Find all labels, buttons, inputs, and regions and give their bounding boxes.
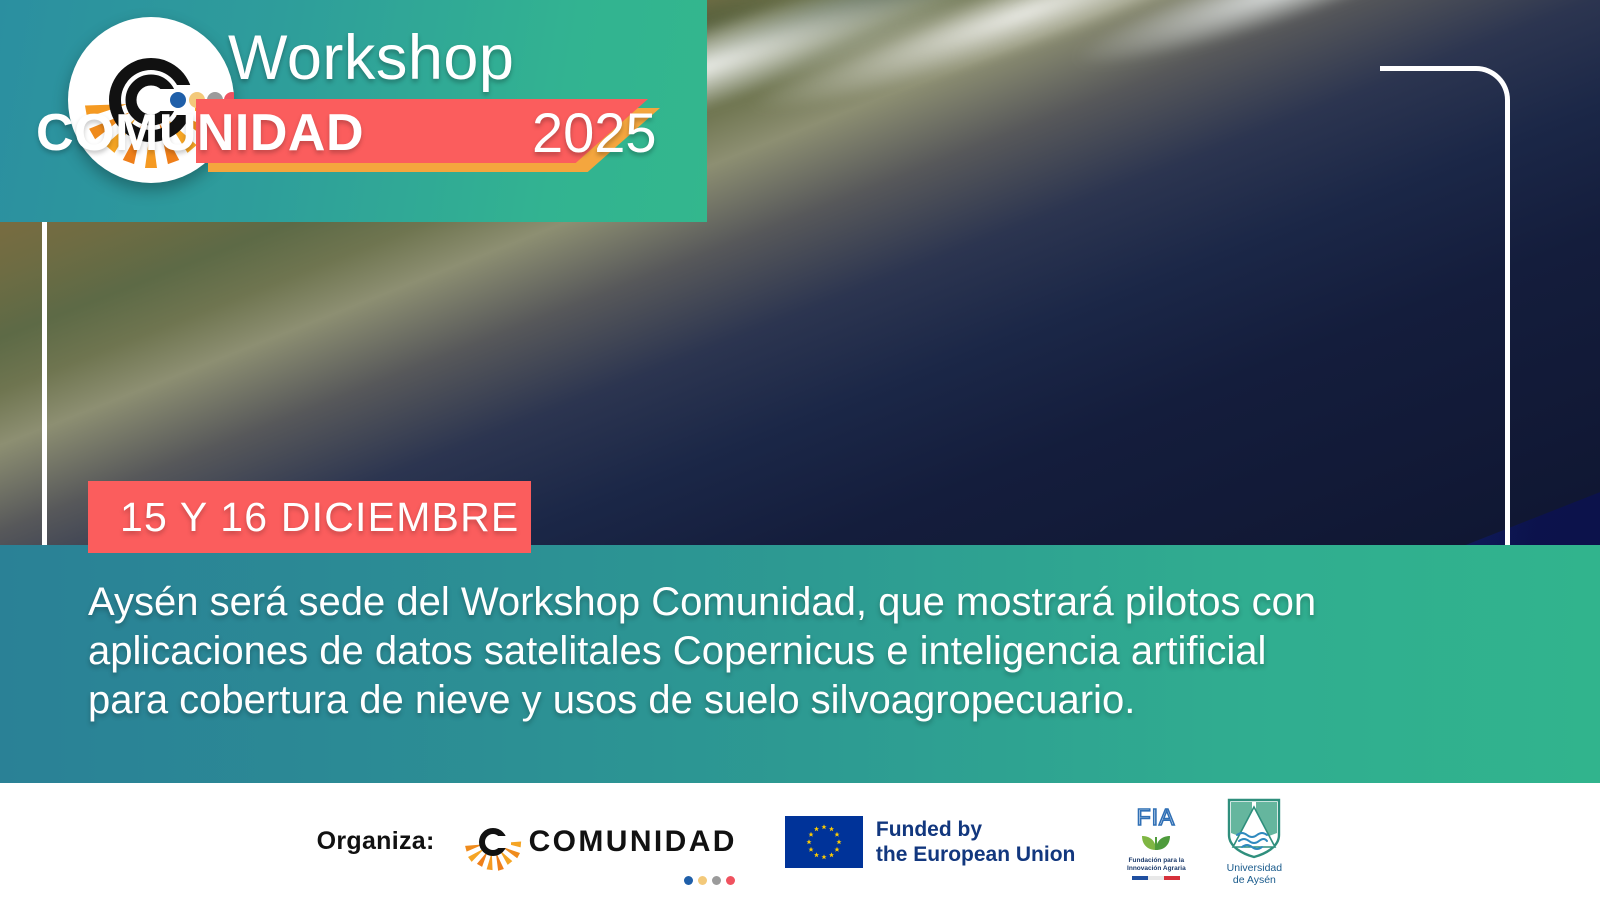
- description-line-1: Aysén será sede del Workshop Comunidad, …: [88, 578, 1358, 627]
- eu-funding-text: Funded by the European Union: [876, 817, 1076, 867]
- footer-sun-rays-icon: [461, 810, 525, 874]
- stripe-white: [1148, 876, 1164, 880]
- workshop-wordmark: Workshop: [228, 24, 514, 92]
- svg-text:FIA: FIA: [1137, 804, 1176, 830]
- dot-tan: [698, 876, 707, 885]
- header-band: Workshop COMUNIDAD 2025: [0, 0, 707, 222]
- date-badge-label: 15 Y 16 DICIEMBRE: [88, 494, 519, 541]
- stripe-red: [1164, 876, 1180, 880]
- fia-logo-block: FIA Fundación para la Innovación Agraria: [1123, 803, 1189, 880]
- eu-funding-line-2: the European Union: [876, 842, 1076, 867]
- universidad-aysen-crest-icon: [1225, 797, 1283, 859]
- fia-leaf-logo-icon: FIA: [1125, 803, 1187, 855]
- footer-comunidad-wordmark: COMUNIDAD: [529, 825, 737, 859]
- universidad-line-2: de Aysén: [1227, 874, 1282, 887]
- fia-caption-line-1: Fundación para la: [1127, 857, 1186, 865]
- universidad-line-1: Universidad: [1227, 862, 1282, 875]
- footer-logo-bar: Organiza: COMU: [0, 783, 1600, 900]
- organiza-label: Organiza:: [317, 827, 435, 856]
- chile-flag-stripe: [1132, 876, 1180, 880]
- european-union-flag-icon: [785, 816, 863, 868]
- stripe-blue: [1132, 876, 1148, 880]
- dot-red: [726, 876, 735, 885]
- poster-root: Workshop COMUNIDAD 2025 15 Y 16 DICIEMBR…: [0, 0, 1600, 900]
- date-badge: 15 Y 16 DICIEMBRE: [88, 481, 531, 553]
- dot-gray: [712, 876, 721, 885]
- footer-comunidad-logo: COMUNIDAD: [461, 810, 737, 874]
- title-comunidad: COMUNIDAD: [36, 101, 364, 165]
- footer-logo-dots: [684, 876, 735, 885]
- dot-blue: [684, 876, 693, 885]
- eu-funding-line-1: Funded by: [876, 817, 1076, 842]
- universidad-aysen-block: Universidad de Aysén: [1225, 797, 1283, 887]
- title-year: 2025: [532, 99, 657, 167]
- universidad-aysen-text: Universidad de Aysén: [1227, 862, 1282, 887]
- description-line-3: para cobertura de nieve y usos de suelo …: [88, 676, 1358, 725]
- title-workshop: Workshop: [228, 24, 514, 92]
- fia-caption: Fundación para la Innovación Agraria: [1127, 857, 1186, 873]
- description-line-2: aplicaciones de datos satelitales Copern…: [88, 627, 1358, 676]
- description-text: Aysén será sede del Workshop Comunidad, …: [88, 578, 1358, 725]
- fia-caption-line-2: Innovación Agraria: [1127, 865, 1186, 873]
- eu-funding-block: Funded by the European Union: [785, 816, 1076, 868]
